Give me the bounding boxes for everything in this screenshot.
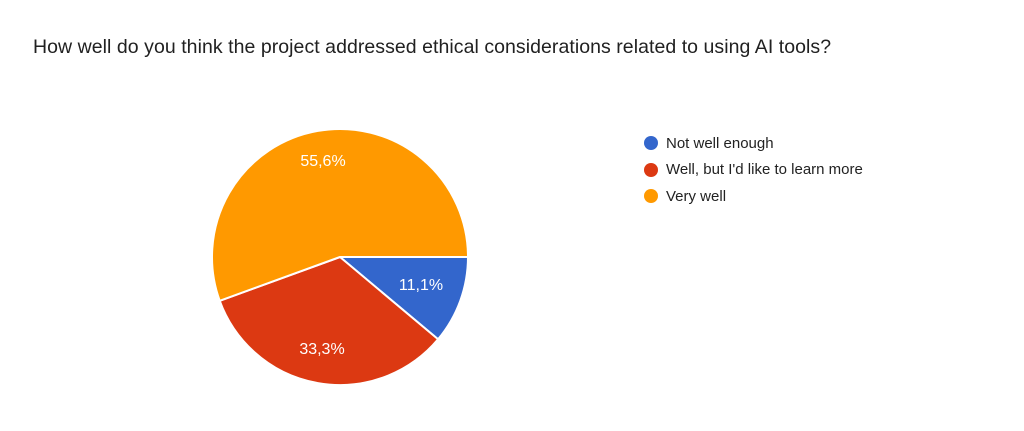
- legend-swatch-icon: [644, 136, 658, 150]
- pie-slice-value-label: 33,3%: [299, 341, 344, 358]
- legend-item-label: Well, but I'd like to learn more: [666, 161, 863, 178]
- pie-chart-card: How well do you think the project addres…: [0, 0, 1024, 431]
- pie-chart-area: 11,1%33,3%55,6%: [0, 0, 660, 431]
- pie-chart-svg: 11,1%33,3%55,6%: [0, 0, 660, 431]
- pie-slice-value-label: 11,1%: [399, 277, 443, 294]
- pie-slice-value-label: 55,6%: [300, 153, 345, 170]
- legend-item-not-well-enough[interactable]: Not well enough: [644, 130, 1004, 157]
- legend-item-very-well[interactable]: Very well: [644, 183, 1004, 210]
- legend-item-label: Very well: [666, 188, 726, 205]
- legend-swatch-icon: [644, 163, 658, 177]
- legend-swatch-icon: [644, 189, 658, 203]
- legend-item-label: Not well enough: [666, 135, 774, 152]
- chart-legend: Not well enough Well, but I'd like to le…: [644, 130, 1004, 210]
- legend-item-well-but-learn-more[interactable]: Well, but I'd like to learn more: [644, 157, 1004, 184]
